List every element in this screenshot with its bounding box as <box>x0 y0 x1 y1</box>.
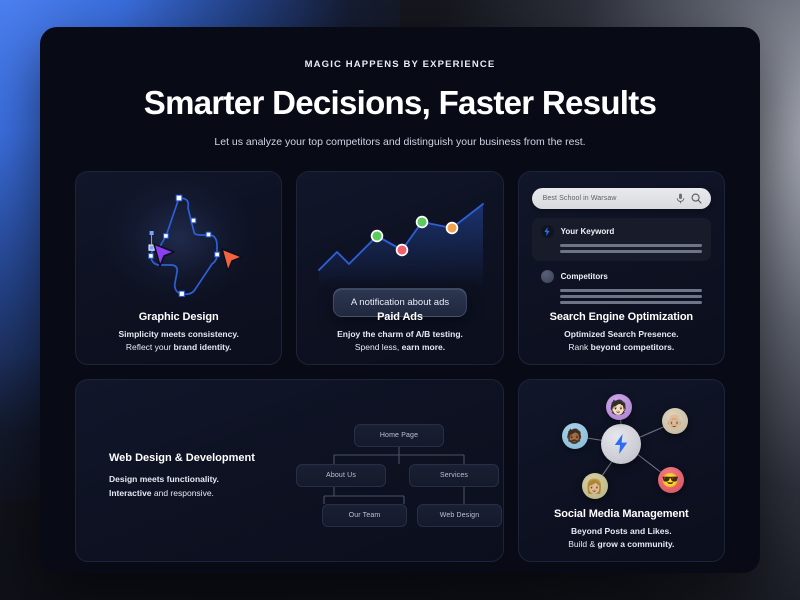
seo-illustration: Best School in Warsaw <box>532 188 711 304</box>
card-line-2: Reflect your brand identity. <box>76 342 281 352</box>
skeleton-bar <box>560 289 702 292</box>
card-line-1: Design meets functionality. <box>109 474 255 484</box>
page-title: Smarter Decisions, Faster Results <box>40 84 760 122</box>
keyword-badge <box>541 225 554 238</box>
graphic-design-illustration <box>76 176 281 306</box>
card-title: Web Design & Development <box>109 452 255 464</box>
mic-icon[interactable] <box>676 193 685 204</box>
sitemap-diagram: Home Page About Us Services Our Team Web… <box>304 424 494 534</box>
card-line-2-plain: Build & <box>568 539 597 549</box>
card-line-2-plain: and responsive. <box>152 488 214 498</box>
card-line-2: Spend less, earn more. <box>297 342 502 352</box>
avatar[interactable]: 🧔🏾 <box>562 423 588 449</box>
card-footer-social: Social Media Management Beyond Posts and… <box>519 508 724 549</box>
card-line-2-bold: brand identity. <box>174 342 232 352</box>
card-footer-paid-ads: Paid Ads Enjoy the charm of A/B testing.… <box>297 311 502 352</box>
card-line-2-plain: Reflect your <box>126 342 174 352</box>
card-footer-seo: Search Engine Optimization Optimized Sea… <box>519 311 724 352</box>
card-line-2-bold: earn more. <box>402 342 445 352</box>
card-paid-ads[interactable]: A notification about ads Paid Ads Enjoy … <box>296 171 503 365</box>
lightning-bolt-icon <box>614 434 628 454</box>
avatar[interactable]: 👴🏼 <box>662 408 688 434</box>
main-panel: MAGIC HAPPENS BY EXPERIENCE Smarter Deci… <box>40 27 760 573</box>
avatar[interactable]: 👩🏼 <box>582 473 608 499</box>
card-line-2-bold: grow a community. <box>598 539 675 549</box>
hero-section: MAGIC HAPPENS BY EXPERIENCE Smarter Deci… <box>40 27 760 148</box>
card-seo[interactable]: Best School in Warsaw <box>518 171 725 365</box>
card-row-top: Graphic Design Simplicity meets consiste… <box>75 171 725 365</box>
search-bar[interactable]: Best School in Warsaw <box>532 188 711 209</box>
sitemap-node-services[interactable]: Services <box>409 464 499 487</box>
card-title: Paid Ads <box>297 311 502 323</box>
social-hub-node <box>601 424 641 464</box>
sitemap-node-web-design[interactable]: Web Design <box>417 504 502 527</box>
card-line-1: Enjoy the charm of A/B testing. <box>297 329 502 339</box>
your-keyword-label: Your Keyword <box>561 227 615 236</box>
cursor-purple-icon <box>154 244 174 266</box>
search-icon[interactable] <box>691 193 702 204</box>
competitors-label: Competitors <box>561 272 608 281</box>
avatar[interactable]: 😎 <box>658 467 684 493</box>
card-line-2-bold: beyond competitors. <box>591 342 675 352</box>
card-line-2-plain: Rank <box>568 342 590 352</box>
sitemap-node-about[interactable]: About Us <box>296 464 386 487</box>
card-row-bottom: Web Design & Development Design meets fu… <box>75 379 725 562</box>
card-title: Graphic Design <box>76 311 281 323</box>
card-line-1: Simplicity meets consistency. <box>76 329 281 339</box>
your-keyword-panel[interactable]: Your Keyword <box>532 218 711 261</box>
web-design-text: Web Design & Development Design meets fu… <box>109 452 255 498</box>
sitemap-node-home[interactable]: Home Page <box>354 424 444 447</box>
competitors-skeleton-bars <box>541 289 702 304</box>
hero-eyebrow: MAGIC HAPPENS BY EXPERIENCE <box>40 59 760 70</box>
card-title: Search Engine Optimization <box>519 311 724 323</box>
sitemap-node-our-team[interactable]: Our Team <box>322 504 407 527</box>
competitor-avatar <box>541 270 554 283</box>
card-line-2-bold: Interactive <box>109 488 152 498</box>
hero-subtitle: Let us analyze your top competitors and … <box>40 136 760 148</box>
competitors-block[interactable]: Competitors <box>532 270 711 304</box>
social-network-illustration: 🧑🏻 👴🏼 😎 👩🏼 🧔🏾 <box>519 388 724 510</box>
skeleton-bar <box>560 295 702 298</box>
card-line-1: Optimized Search Presence. <box>519 329 724 339</box>
skeleton-bar <box>560 301 702 304</box>
competitors-header: Competitors <box>541 270 702 283</box>
paid-ads-chart <box>297 178 502 298</box>
skeleton-bar <box>560 250 702 253</box>
cursor-orange-icon <box>222 249 242 271</box>
card-graphic-design[interactable]: Graphic Design Simplicity meets consiste… <box>75 171 282 365</box>
keyword-skeleton-bars <box>541 244 702 253</box>
card-title: Social Media Management <box>519 508 724 520</box>
card-line-2-plain: Spend less, <box>355 342 402 352</box>
search-input[interactable]: Best School in Warsaw <box>543 195 670 202</box>
card-line-1: Beyond Posts and Likes. <box>519 526 724 536</box>
card-line-2: Rank beyond competitors. <box>519 342 724 352</box>
skeleton-bar <box>560 244 702 247</box>
card-social-media[interactable]: 🧑🏻 👴🏼 😎 👩🏼 🧔🏾 Social Media Management Be… <box>518 379 725 562</box>
card-footer-graphic-design: Graphic Design Simplicity meets consiste… <box>76 311 281 352</box>
service-card-grid: Graphic Design Simplicity meets consiste… <box>75 171 725 562</box>
card-line-2: Build & grow a community. <box>519 539 724 549</box>
your-keyword-header: Your Keyword <box>541 225 702 238</box>
lightning-bolt-icon <box>544 227 550 236</box>
avatar[interactable]: 🧑🏻 <box>606 394 632 420</box>
card-web-design[interactable]: Web Design & Development Design meets fu… <box>75 379 504 562</box>
card-line-2: Interactive and responsive. <box>109 488 255 498</box>
